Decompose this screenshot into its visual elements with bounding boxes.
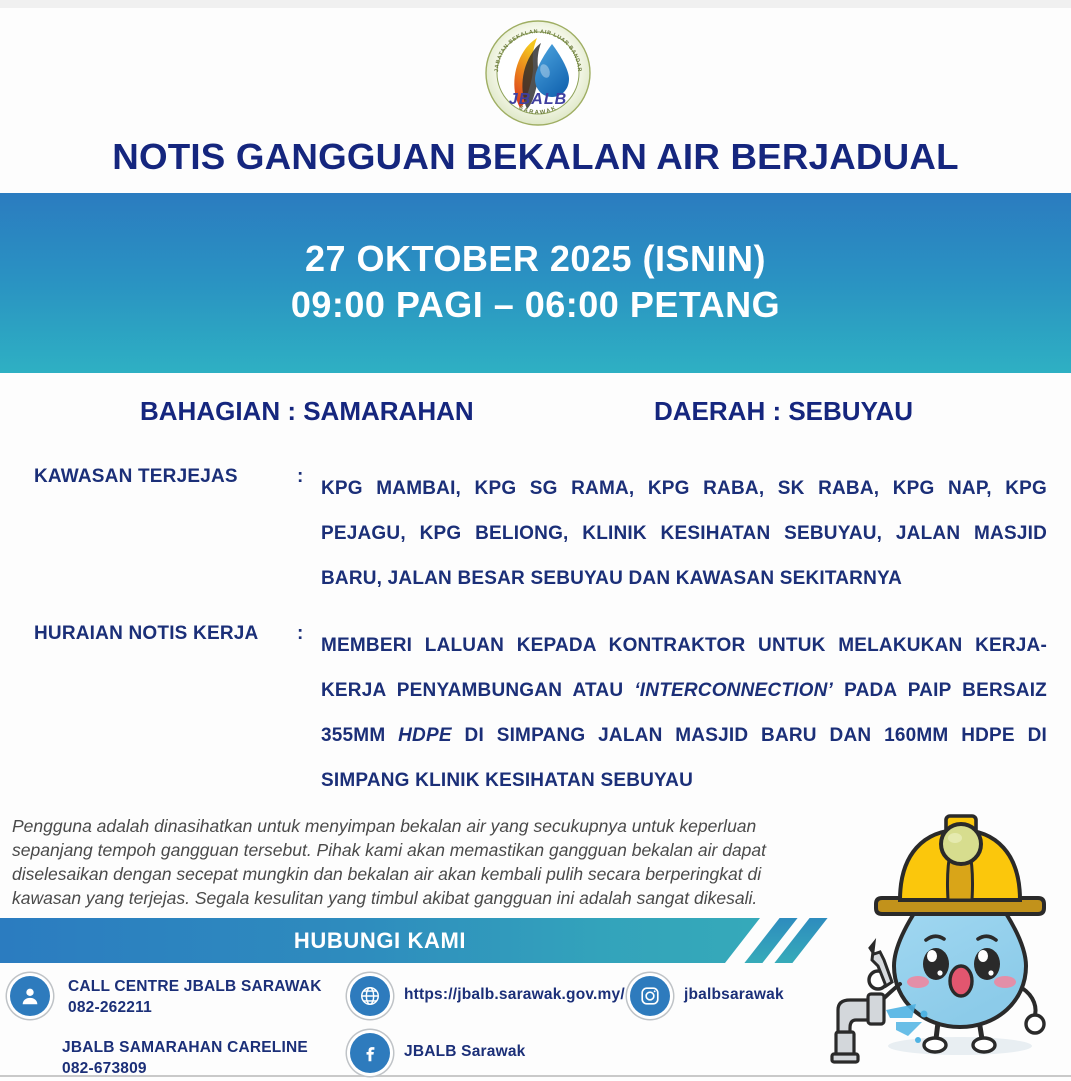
facebook-icon	[350, 1033, 390, 1073]
svg-text:JBALB: JBALB	[509, 91, 567, 108]
affected-areas-label: KAWASAN TERJEJAS	[34, 466, 238, 488]
facebook-handle: JBALB Sarawak	[404, 1033, 525, 1062]
affected-areas-value: KPG MAMBAI, KPG SG RAMA, KPG RABA, SK RA…	[321, 466, 1047, 601]
notice-date: 27 OKTOBER 2025 (ISNIN)	[305, 236, 766, 281]
contact-facebook[interactable]: JBALB Sarawak	[350, 1033, 525, 1073]
careline-text: JBALB SAMARAHAN CARELINE 082-673809	[62, 1037, 308, 1079]
work-description-colon: :	[297, 623, 303, 645]
contact-careline[interactable]: JBALB SAMARAHAN CARELINE 082-673809	[62, 1037, 308, 1079]
water-drop-plumber-mascot	[812, 796, 1068, 1076]
top-chrome-strip	[0, 0, 1071, 8]
contact-banner-title: HUBUNGI KAMI	[0, 918, 760, 963]
contact-call-centre[interactable]: CALL CENTRE JBALB SARAWAK 082-262211	[10, 976, 322, 1018]
instagram-icon	[630, 976, 670, 1016]
daerah-label: DAERAH : SEBUYAU	[654, 396, 913, 427]
work-description-label: HURAIAN NOTIS KERJA	[34, 623, 258, 645]
contact-website[interactable]: https://jbalb.sarawak.gov.my/	[350, 976, 625, 1016]
advisory-text: Pengguna adalah dinasihatkan untuk menyi…	[12, 814, 784, 910]
globe-icon	[350, 976, 390, 1016]
call-centre-text: CALL CENTRE JBALB SARAWAK 082-262211	[68, 976, 322, 1018]
page-title: NOTIS GANGGUAN BEKALAN AIR BERJADUAL	[0, 136, 1071, 178]
date-time-banner: 27 OKTOBER 2025 (ISNIN) 09:00 PAGI – 06:…	[0, 193, 1071, 373]
work-description-value: MEMBERI LALUAN KEPADA KONTRAKTOR UNTUK M…	[321, 623, 1047, 803]
instagram-handle: jbalbsarawak	[684, 976, 784, 1005]
notice-poster: JBALB JABATAN BEKALAN AIR LUAR BANDAR SA…	[0, 8, 1071, 1077]
website-url: https://jbalb.sarawak.gov.my/	[404, 976, 625, 1005]
careline-name: JBALB SAMARAHAN CARELINE	[62, 1037, 308, 1058]
person-icon	[10, 976, 50, 1016]
region-row: BAHAGIAN : SAMARAHAN DAERAH : SEBUYAU	[0, 396, 1071, 436]
bahagian-label: BAHAGIAN : SAMARAHAN	[140, 396, 474, 427]
call-centre-name: CALL CENTRE JBALB SARAWAK	[68, 976, 322, 997]
work-desc-interconnection: ‘INTERCONNECTION’	[634, 680, 833, 701]
jbalb-logo: JBALB JABATAN BEKALAN AIR LUAR BANDAR SA…	[480, 16, 596, 128]
affected-areas-colon: :	[297, 466, 303, 488]
contact-instagram[interactable]: jbalbsarawak	[630, 976, 784, 1016]
call-centre-number: 082-262211	[68, 997, 322, 1018]
careline-number: 082-673809	[62, 1058, 308, 1079]
notice-time: 09:00 PAGI – 06:00 PETANG	[291, 281, 780, 330]
work-desc-hdpe: HDPE	[398, 725, 452, 746]
